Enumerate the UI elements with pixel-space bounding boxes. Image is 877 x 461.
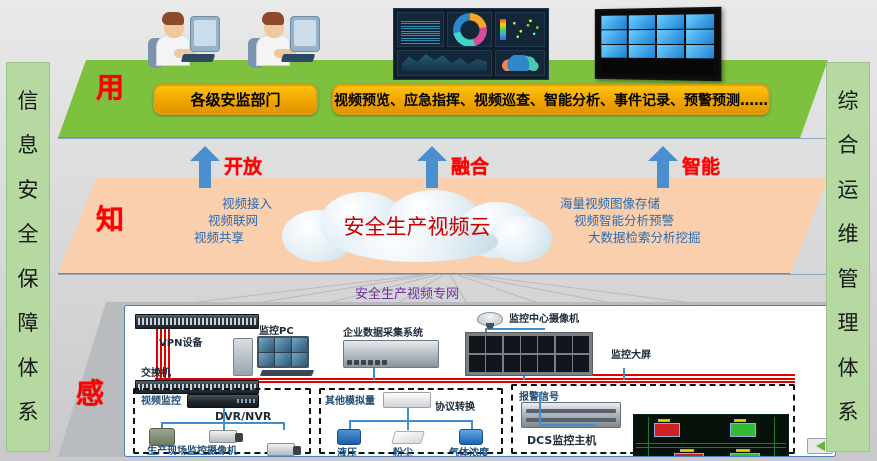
left-panel-char: 安 <box>18 180 39 201</box>
dcs-system-label: DCS系统 <box>681 388 728 404</box>
layer-letter-sense: 感 <box>76 372 104 412</box>
keyboard-icon <box>181 54 216 62</box>
cloud-capabilities-left: 视频接入 视频联网 视频共享 <box>122 196 272 247</box>
up-arrow-smart-icon <box>648 146 678 188</box>
operators-illustration <box>148 8 338 70</box>
arrow-label-fusion: 融合 <box>451 152 489 179</box>
dashboard-table-panel <box>397 12 444 47</box>
left-panel-char: 息 <box>18 135 39 156</box>
left-panel-char: 障 <box>18 313 39 334</box>
protocol-converter-label: 协议转换 <box>435 398 475 413</box>
dust-sensor-icon <box>391 431 425 444</box>
monitor-screen <box>294 20 316 46</box>
video-monitoring-title: 视频监控 <box>141 392 181 407</box>
dust-label: 粉尘 <box>393 444 413 457</box>
area-chart-icon <box>402 50 487 71</box>
right-panel-char: 体 <box>838 358 859 379</box>
right-panel-char: 合 <box>838 135 859 156</box>
dashboard-bubble-panel <box>495 50 545 76</box>
left-panel-char: 系 <box>18 402 39 423</box>
pc-tower-icon <box>233 338 253 376</box>
blue-link <box>623 368 625 380</box>
blue-link <box>407 408 409 420</box>
person-hair <box>262 12 284 25</box>
blue-link <box>373 368 375 380</box>
analytics-dashboard-image <box>393 8 549 80</box>
blue-link <box>539 424 595 426</box>
left-system-panel: 信 息 安 全 保 障 体 系 <box>6 62 50 452</box>
functions-box[interactable]: 视频预览、应急指挥、视频巡查、智能分析、事件记录、预警预测…… <box>332 84 770 115</box>
cloud-title: 安全生产视频云 <box>282 190 552 262</box>
arrow-label-open: 开放 <box>224 152 262 179</box>
cloud-left-line: 视频接入 <box>122 196 272 213</box>
blue-link <box>349 420 473 422</box>
bubble-chart-icon <box>500 55 540 71</box>
right-panel-char: 综 <box>838 91 859 112</box>
pc-monitor-icon <box>257 336 309 368</box>
arrow-label-smart: 智能 <box>682 152 720 179</box>
keyboard-icon <box>281 54 316 62</box>
cloud-right-line: 视频智能分析预警 <box>560 213 750 230</box>
blue-link <box>223 422 225 430</box>
dashboard-donut-panel <box>447 12 492 47</box>
vpn-device-label: VPN设备 <box>159 334 202 349</box>
private-network-label: 安全生产视频专网 <box>355 283 459 302</box>
operator-figure <box>248 8 320 70</box>
cloud-right-line: 海量视频图像存储 <box>560 196 750 213</box>
play-triangle-icon <box>816 441 825 451</box>
layer-letter-use: 用 <box>96 66 124 106</box>
dcs-host-label: DCS监控主机 <box>527 432 596 448</box>
video-wall-screens <box>601 14 714 59</box>
dcs-system-screen <box>633 414 789 457</box>
left-panel-char: 全 <box>18 224 39 245</box>
dvr-nvr-device <box>187 394 259 408</box>
person-hair <box>162 12 184 25</box>
protocol-converter-device <box>383 392 431 408</box>
data-acquisition-server <box>343 340 439 368</box>
analog-signal-title: 其他模拟量 <box>325 392 375 407</box>
dashboard-bars <box>401 21 440 43</box>
color-scale-icon <box>500 19 506 40</box>
layer-letter-know: 知 <box>96 198 124 238</box>
video-wall-frame <box>595 7 722 81</box>
layer-edge-use <box>58 138 828 139</box>
box-camera-icon <box>267 443 295 456</box>
right-panel-char: 系 <box>838 402 859 423</box>
site-camera-label: 生产现场监控摄像机 <box>147 442 237 457</box>
cloud-capabilities-right: 海量视频图像存储 视频智能分析预警 大数据检索分析挖掘 <box>560 196 750 247</box>
pc-keyboard-icon <box>260 370 314 376</box>
video-wall-base <box>601 58 714 75</box>
video-wall-image <box>592 8 720 80</box>
dome-camera-icon <box>477 312 503 326</box>
vpn-device <box>135 314 259 329</box>
blue-link <box>223 408 225 422</box>
donut-chart-icon <box>453 13 487 47</box>
operator-figure <box>148 8 220 70</box>
center-camera-label: 监控中心摄像机 <box>509 310 579 325</box>
left-panel-char: 体 <box>18 358 39 379</box>
scatter-points <box>510 18 541 42</box>
video-cloud-shape: 安全生产视频云 <box>282 190 552 262</box>
hydraulic-label: 液压 <box>337 444 357 457</box>
blue-link <box>539 392 541 424</box>
monitoring-pc-label: 监控PC <box>259 322 294 337</box>
big-screen-label: 监控大屏 <box>611 346 651 361</box>
dashboard-area-panel <box>397 50 492 76</box>
left-panel-char: 信 <box>18 91 39 112</box>
right-panel-char: 管 <box>838 269 859 290</box>
gas-sensor-icon <box>459 429 483 445</box>
blue-link <box>283 422 285 430</box>
blue-link <box>407 420 409 430</box>
architecture-diagram: 用 知 感 各级安监部门 视频预览、应急指挥、视频巡查、智能分析、事件记录、预警… <box>0 0 877 461</box>
infrastructure-panel: VPN设备 交换机 监控PC 企业数据采集系统 监控中心摄像机 监控大屏 视频监… <box>124 305 836 457</box>
network-switch-label: 交换机 <box>141 364 171 379</box>
control-room-image <box>465 332 593 376</box>
dashboard-scatter-panel <box>495 12 545 47</box>
right-panel-char: 维 <box>838 224 859 245</box>
data-acquisition-label: 企业数据采集系统 <box>343 324 423 339</box>
dept-box[interactable]: 各级安监部门 <box>153 84 318 115</box>
blue-link <box>485 328 545 330</box>
gas-concentration-label: 气体浓度 <box>449 444 489 457</box>
right-system-panel: 综 合 运 维 管 理 体 系 <box>826 62 870 452</box>
right-panel-char: 运 <box>838 180 859 201</box>
monitor-screen <box>194 20 216 46</box>
cloud-left-line: 视频共享 <box>122 230 272 247</box>
up-arrow-fusion-icon <box>417 146 447 188</box>
hydraulic-sensor-icon <box>337 429 361 445</box>
up-arrow-open-icon <box>190 146 220 188</box>
cloud-left-line: 视频联网 <box>122 213 272 230</box>
left-panel-char: 保 <box>18 269 39 290</box>
cloud-right-line: 大数据检索分析挖掘 <box>560 230 750 247</box>
right-panel-char: 理 <box>838 313 859 334</box>
